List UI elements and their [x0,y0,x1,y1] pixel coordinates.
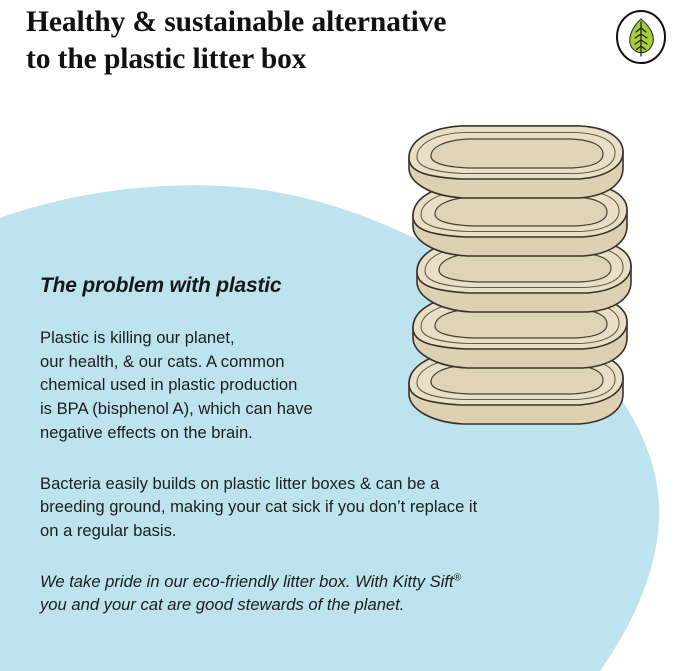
tray-1-top [409,126,623,198]
page-title: Healthy & sustainable alternative to the… [26,4,566,79]
paragraph-bacteria: Bacteria easily builds on plastic litter… [40,472,570,543]
infographic-panel: Healthy & sustainable alternative to the… [0,0,679,671]
content-block: The problem with plastic Plastic is kill… [40,274,600,617]
header: Healthy & sustainable alternative to the… [0,0,679,100]
paragraph-plastic-health: Plastic is killing our planet, our healt… [40,326,385,445]
closing-text-lead: We take pride in our eco-friendly litter… [40,572,454,591]
leaf-in-circle-icon [613,9,669,65]
section-heading: The problem with plastic [40,274,600,298]
paragraph-closing: We take pride in our eco-friendly litter… [40,570,570,617]
closing-text-tail: you and your cat are good stewards of th… [40,595,404,614]
registered-trademark-mark: ® [454,572,461,583]
